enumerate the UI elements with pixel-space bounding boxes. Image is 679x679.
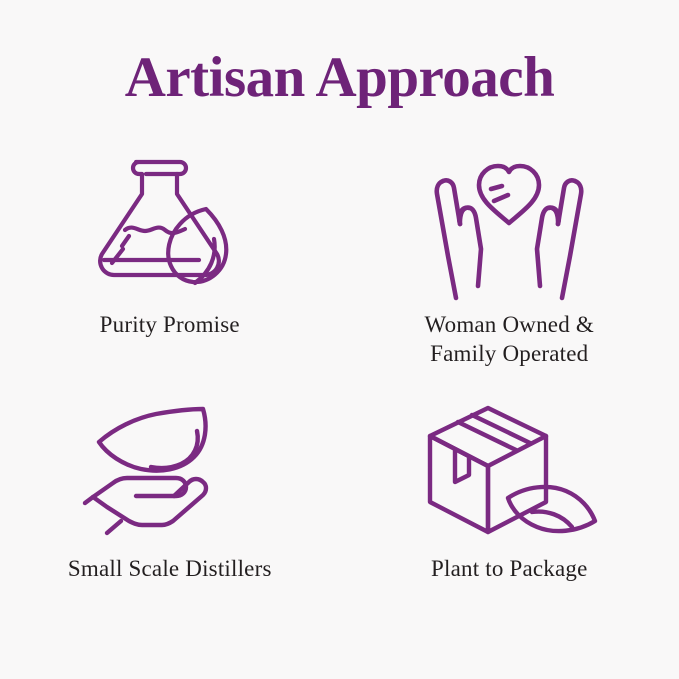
feature-item-plant-to-package: Plant to Package xyxy=(340,400,679,650)
page-title: Artisan Approach xyxy=(0,46,679,110)
flask-leaf-icon xyxy=(80,150,260,300)
feature-item-purity-promise: Purity Promise xyxy=(0,150,340,400)
hand-leaf-icon xyxy=(80,400,260,540)
feature-grid: Purity Promise xyxy=(0,150,679,650)
box-leaf-icon xyxy=(419,400,599,540)
feature-label: Woman Owned & Family Operated xyxy=(425,310,594,368)
feature-label: Small Scale Distillers xyxy=(68,554,272,583)
feature-item-woman-owned: Woman Owned & Family Operated xyxy=(340,150,679,400)
feature-label: Plant to Package xyxy=(431,554,588,583)
feature-label: Purity Promise xyxy=(100,310,240,339)
artisan-approach-panel: Artisan Approach xyxy=(0,0,679,679)
hands-heart-icon xyxy=(419,150,599,300)
feature-item-small-scale-distillers: Small Scale Distillers xyxy=(0,400,340,650)
